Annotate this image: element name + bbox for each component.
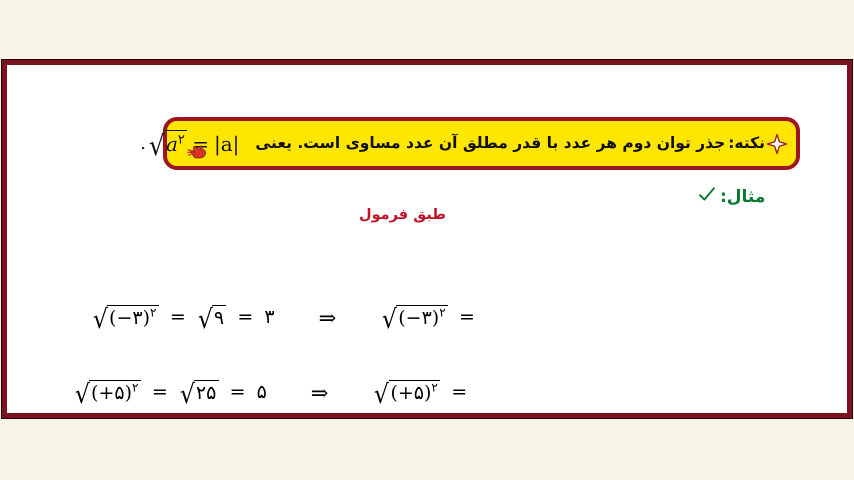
slide-canvas: نکته: جذر توان دوم هر عدد با قدر مطلق آن… (0, 0, 854, 480)
equals-sign: = (237, 306, 253, 328)
equals-sign: = (170, 306, 186, 328)
note-label: نکته: (728, 136, 765, 152)
exponent: ۲ (150, 306, 157, 320)
implies-arrow-icon: ⇒ (319, 306, 337, 330)
equals-sign: = (192, 132, 209, 156)
radical-body: a۲ (164, 130, 187, 158)
equals-sign: = (459, 306, 475, 328)
example-marker: مثال: (698, 186, 765, 208)
radical-sign: √ (382, 307, 397, 333)
note-body-text: جذر توان دوم هر عدد با قدر مطلق آن عدد م… (255, 136, 725, 152)
equation-result: ۵ (257, 381, 267, 403)
exponent: ۲ (439, 306, 446, 320)
radical-expression: √ (+۵)۲ (373, 380, 440, 406)
exponent: ۲ (132, 381, 139, 395)
radical-body: ۲۵ (194, 380, 219, 406)
diamond-star-icon (766, 133, 788, 155)
equation-row: √ (−۳)۲ = √ ۹ = ۳ ⇒ √ (−۳)۲ (92, 305, 480, 331)
radical-sign: √ (180, 382, 195, 408)
radical-sign: √ (374, 382, 389, 408)
exponent: ۲ (178, 132, 185, 147)
equation-right-side: √ (−۳)۲ = (381, 305, 480, 331)
radical-step: √ ۹ (197, 305, 227, 331)
radicand: (+۵) (91, 382, 132, 404)
radical-expression: √ (−۳)۲ (92, 305, 159, 331)
note-radical: √ a۲ (148, 130, 187, 158)
equals-sign: = (230, 381, 246, 403)
exponent: ۲ (431, 381, 438, 395)
equals-sign: = (152, 381, 168, 403)
radical-sign: √ (149, 132, 165, 160)
radical-body: ۹ (212, 305, 226, 331)
slide-frame: نکته: جذر توان دوم هر عدد با قدر مطلق آن… (2, 60, 852, 418)
radical-body: (−۳)۲ (396, 305, 448, 331)
radical-expression: √ (−۳)۲ (381, 305, 448, 331)
note-formula: √ a۲ = |a| (148, 130, 239, 158)
formula-heading: طبق فرمول (359, 207, 446, 223)
equation-right-side: √ (+۵)۲ = (373, 380, 472, 406)
example-label: مثال: (720, 187, 765, 207)
implies-arrow-icon: ⇒ (311, 381, 329, 405)
radical-body: (+۵)۲ (89, 380, 141, 406)
radicand: (+۵) (390, 382, 431, 404)
note-period: . (140, 133, 146, 154)
radical-expression: √ (+۵)۲ (74, 380, 141, 406)
radical-body: (+۵)۲ (389, 380, 441, 406)
radical-sign: √ (198, 307, 213, 333)
radical-sign: √ (75, 382, 90, 408)
equation-left-side: √ (+۵)۲ = √ ۲۵ = ۵ (74, 380, 267, 406)
absolute-value-result: |a| (214, 132, 239, 156)
equals-sign: = (451, 381, 467, 403)
check-mark-icon (698, 186, 716, 208)
radical-body: (−۳)۲ (107, 305, 159, 331)
note-callout-box: نکته: جذر توان دوم هر عدد با قدر مطلق آن… (163, 117, 800, 170)
equation-row: √ (+۵)۲ = √ ۲۵ = ۵ ⇒ √ (+۵)۲ (74, 380, 472, 406)
radical-sign: √ (93, 307, 108, 333)
radicand: (−۳) (398, 307, 439, 329)
slide-content-area: نکته: جذر توان دوم هر عدد با قدر مطلق آن… (7, 65, 847, 413)
equation-result: ۳ (264, 306, 274, 328)
radical-step: √ ۲۵ (179, 380, 219, 406)
radicand: (−۳) (109, 307, 150, 329)
equation-left-side: √ (−۳)۲ = √ ۹ = ۳ (92, 305, 275, 331)
radicand: a (166, 132, 178, 156)
